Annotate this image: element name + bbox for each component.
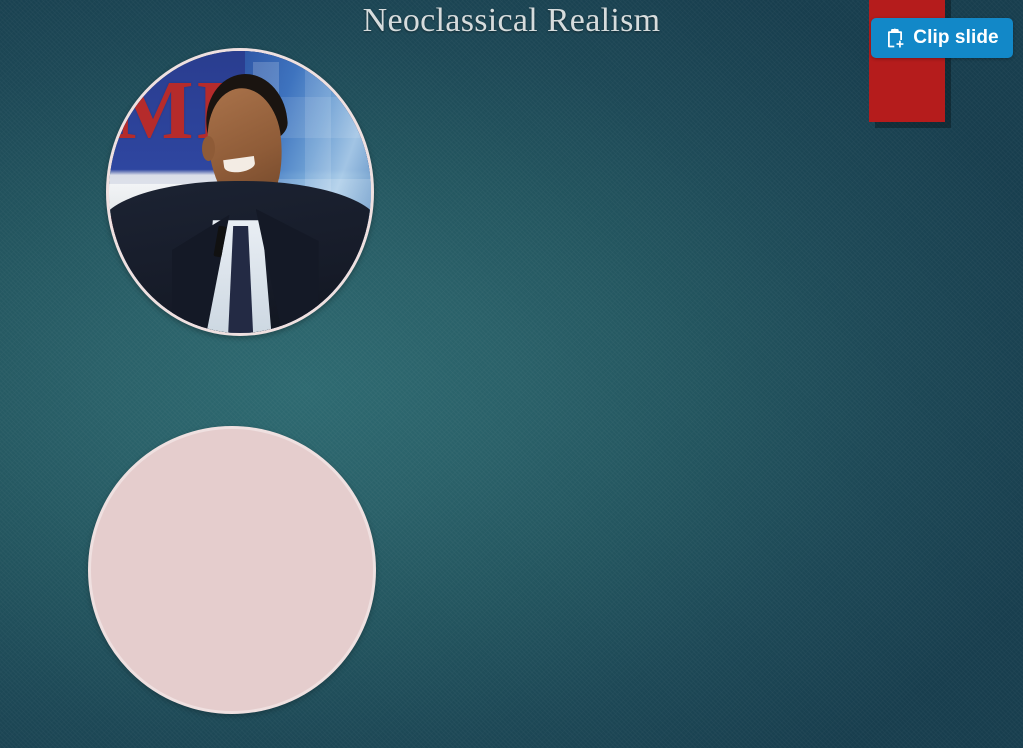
callout-box-1-text: Fareed Zakaria- (1998)- From Wealth to P…	[368, 163, 924, 226]
callout-box-1: Fareed Zakaria- (1998)- From Wealth to P…	[368, 54, 924, 336]
callout-box-2-text: The systemic account of world politics p…	[368, 444, 924, 672]
clip-slide-button-label: Clip slide	[913, 27, 998, 49]
clipboard-plus-icon	[885, 28, 904, 49]
portrait-photo: MI	[109, 51, 371, 333]
photo-ear	[202, 136, 215, 161]
blank-circle-placeholder	[88, 426, 376, 714]
clip-slide-button[interactable]: Clip slide	[871, 18, 1013, 58]
avatar: MI	[106, 48, 374, 336]
callout-box-2: The systemic account of world politics p…	[368, 424, 924, 693]
presentation-slide: Neoclassical Realism Fareed Zakaria- (19…	[0, 0, 1023, 748]
